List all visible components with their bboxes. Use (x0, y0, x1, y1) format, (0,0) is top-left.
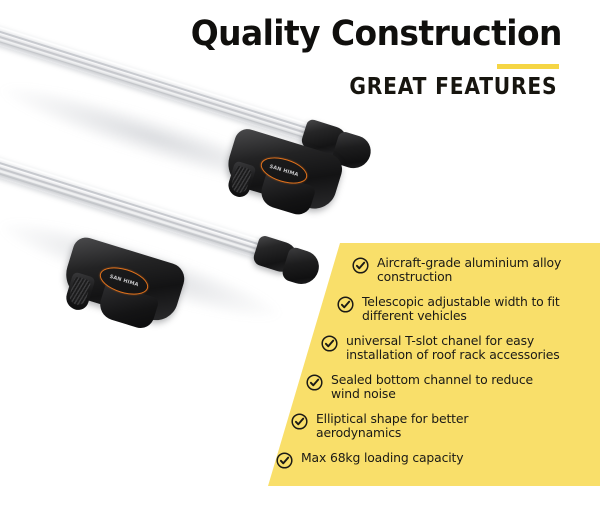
check-circle-icon (352, 257, 369, 274)
list-item: Sealed bottom channel to reduce wind noi… (306, 373, 561, 400)
lower-mounting-foot: SAN HIMA (52, 248, 184, 334)
list-item: Aircraft-grade aluminium alloy construct… (352, 256, 600, 283)
title-accent-bar (497, 64, 559, 69)
list-item: Telescopic adjustable width to fit diffe… (337, 295, 592, 322)
check-circle-icon (306, 374, 323, 391)
check-circle-icon (291, 413, 308, 430)
heading-block: Quality Construction GREAT FEATURES (0, 0, 600, 115)
check-circle-icon (337, 296, 354, 313)
check-circle-icon (276, 452, 293, 469)
product-feature-banner: SAN HIMA SAN HIMA Quality Construc (0, 0, 600, 511)
feature-text: universal T-slot chanel for easy install… (346, 334, 594, 361)
page-title: Quality Construction (191, 14, 562, 54)
list-item: Elliptical shape for better aerodynamics (291, 412, 546, 439)
feature-text: Elliptical shape for better aerodynamics (316, 412, 546, 439)
upper-mounting-foot: SAN HIMA (214, 139, 342, 217)
feature-text: Sealed bottom channel to reduce wind noi… (331, 373, 561, 400)
page-subtitle: GREAT FEATURES (349, 74, 557, 101)
feature-text: Telescopic adjustable width to fit diffe… (362, 295, 592, 322)
feature-text: Max 68kg loading capacity (301, 451, 463, 465)
list-item: Max 68kg loading capacity (276, 451, 463, 469)
check-circle-icon (321, 335, 338, 352)
list-item: universal T-slot chanel for easy install… (321, 334, 594, 361)
feature-text: Aircraft-grade aluminium alloy construct… (377, 256, 600, 283)
